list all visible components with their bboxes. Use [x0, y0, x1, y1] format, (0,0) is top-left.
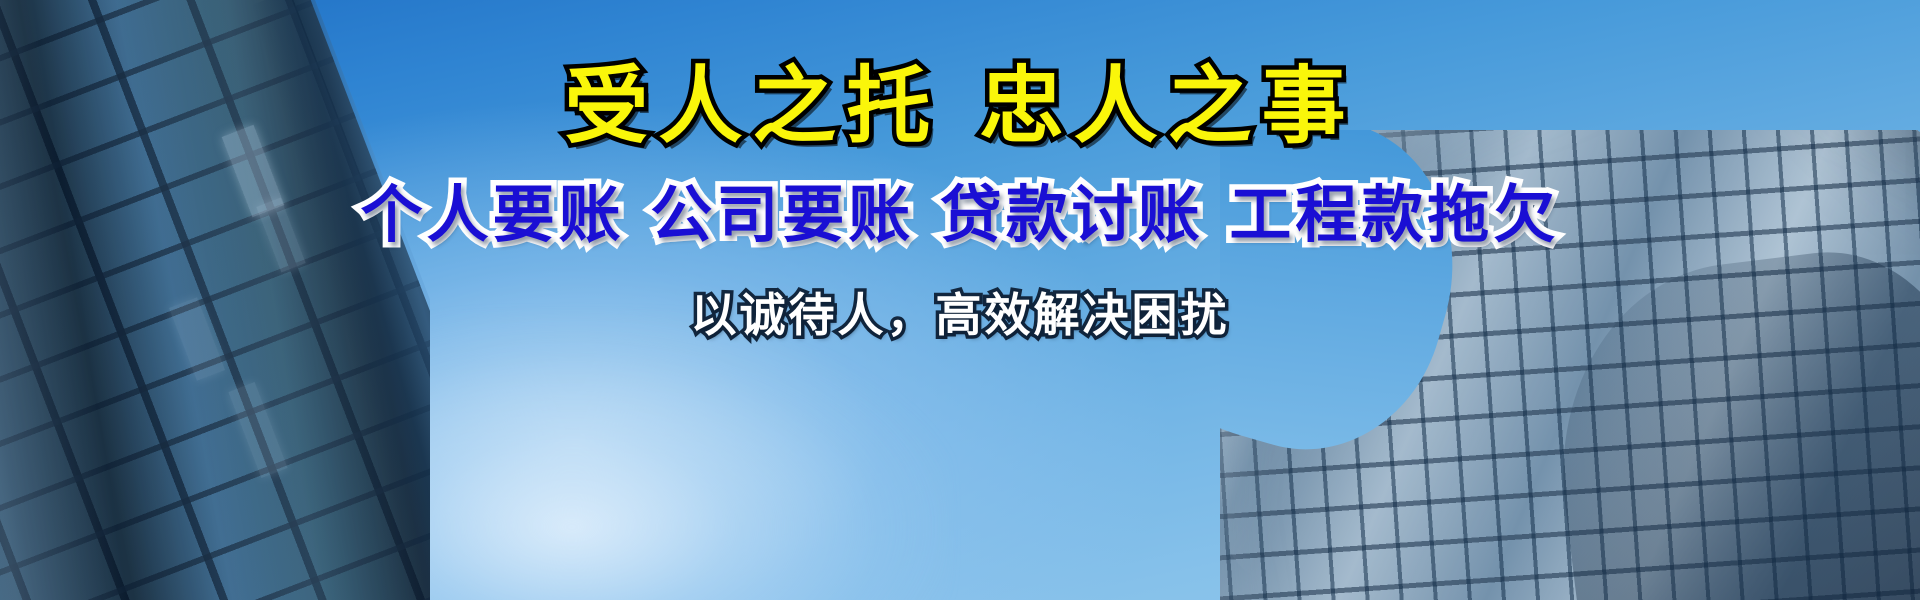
banner-headline: 受人之托 忠人之事: [564, 64, 1355, 148]
banner-service-list: 个人要账 公司要账 贷款讨账 工程款拖欠: [361, 184, 1560, 246]
promotional-banner: 受人之托 忠人之事 个人要账 公司要账 贷款讨账 工程款拖欠 以诚待人，高效解决…: [0, 0, 1920, 600]
banner-tagline: 以诚待人，高效解决困扰: [691, 292, 1230, 338]
banner-text-stack: 受人之托 忠人之事 个人要账 公司要账 贷款讨账 工程款拖欠 以诚待人，高效解决…: [0, 0, 1920, 600]
